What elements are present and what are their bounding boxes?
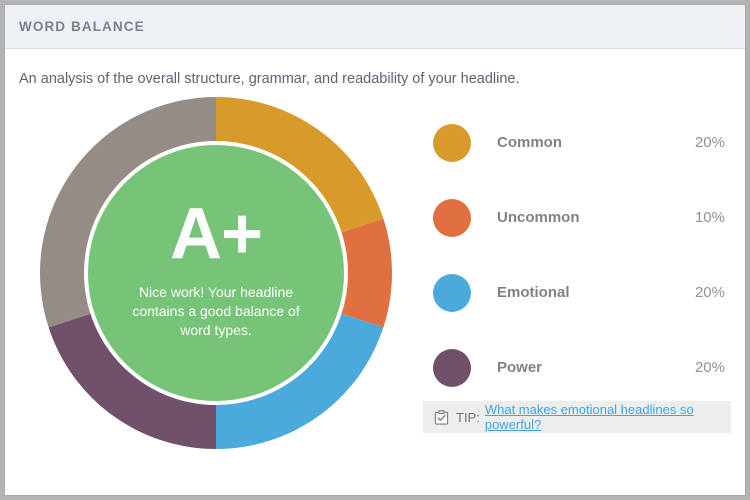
tip-label: TIP: bbox=[456, 410, 480, 425]
grade-letter: A+ bbox=[170, 200, 262, 268]
legend-label: Emotional bbox=[497, 284, 673, 301]
legend-row: Power20% bbox=[433, 330, 725, 405]
legend-swatch-power bbox=[433, 349, 471, 387]
word-balance-card: WORD BALANCE An analysis of the overall … bbox=[4, 4, 746, 496]
clipboard-check-icon bbox=[434, 410, 449, 425]
legend-value: 20% bbox=[673, 134, 725, 151]
page-title: WORD BALANCE bbox=[19, 19, 145, 34]
legend-value: 20% bbox=[673, 284, 725, 301]
legend-swatch-uncommon bbox=[433, 199, 471, 237]
card-header: WORD BALANCE bbox=[5, 5, 745, 49]
legend-label: Uncommon bbox=[497, 209, 673, 226]
legend-swatch-emotional bbox=[433, 274, 471, 312]
grade-message: Nice work! Your headline contains a good… bbox=[126, 283, 306, 340]
legend-value: 20% bbox=[673, 359, 725, 376]
legend-swatch-common bbox=[433, 124, 471, 162]
legend-label: Power bbox=[497, 359, 673, 376]
chart-legend: Common20%Uncommon10%Emotional20%Power20% bbox=[433, 105, 725, 405]
legend-row: Emotional20% bbox=[433, 255, 725, 330]
donut-chart: A+ Nice work! Your headline contains a g… bbox=[38, 95, 394, 451]
tip-link[interactable]: What makes emotional headlines so powerf… bbox=[485, 402, 731, 432]
legend-row: Common20% bbox=[433, 105, 725, 180]
legend-label: Common bbox=[497, 134, 673, 151]
chart-area: A+ Nice work! Your headline contains a g… bbox=[5, 87, 745, 447]
card-description: An analysis of the overall structure, gr… bbox=[5, 49, 745, 87]
legend-row: Uncommon10% bbox=[433, 180, 725, 255]
legend-value: 10% bbox=[673, 209, 725, 226]
grade-circle: A+ Nice work! Your headline contains a g… bbox=[84, 141, 348, 405]
tip-bar: TIP: What makes emotional headlines so p… bbox=[423, 401, 731, 433]
